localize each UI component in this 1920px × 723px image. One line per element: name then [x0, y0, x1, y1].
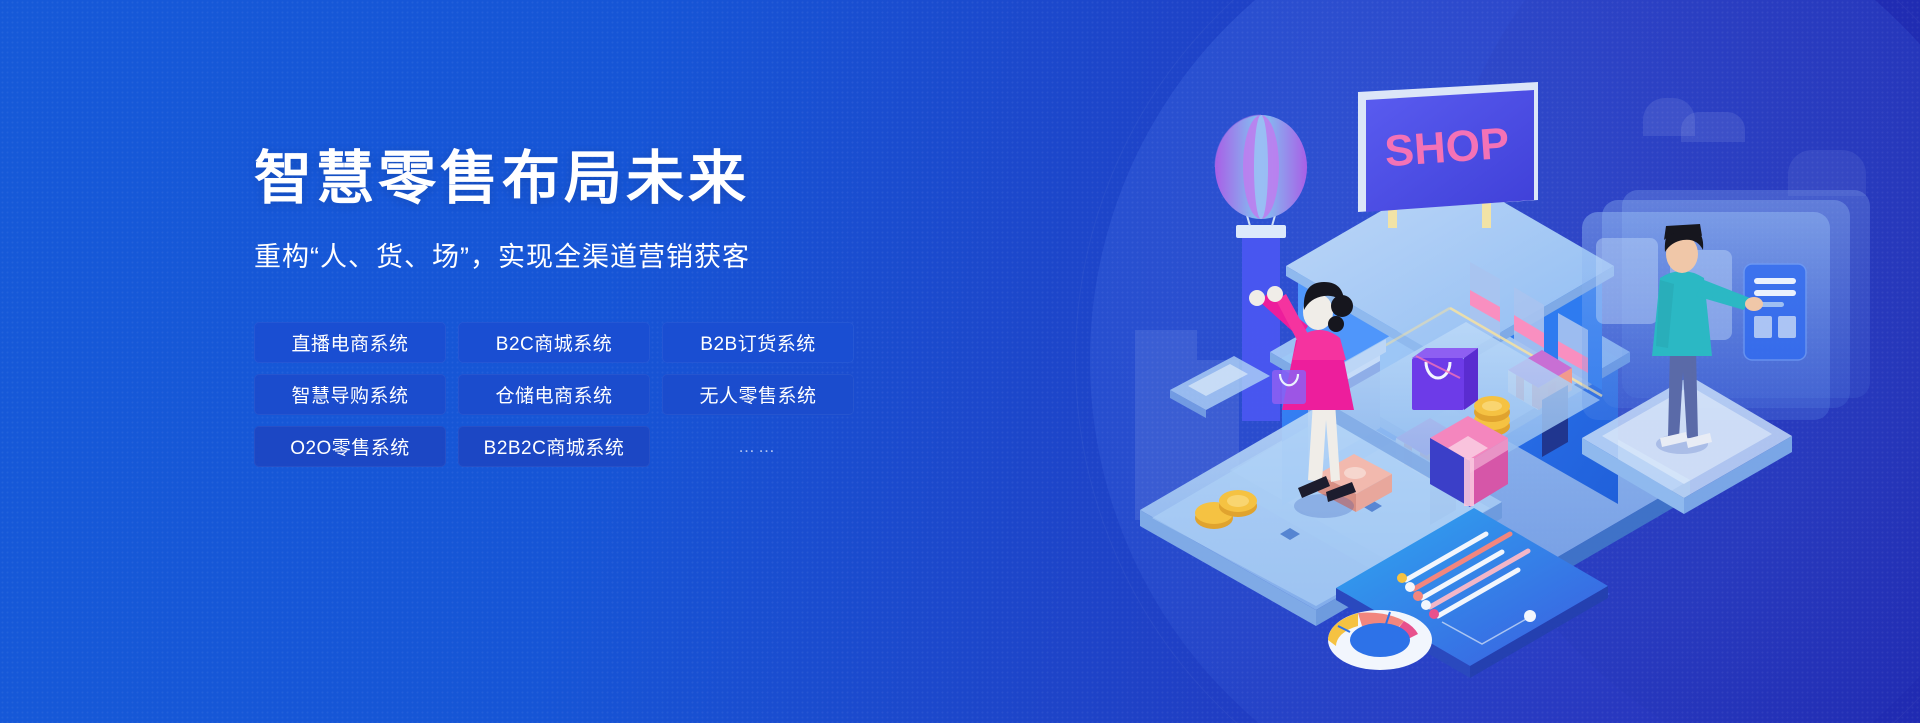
- product-tag-b2b2c-mall[interactable]: B2B2C商城系统: [458, 426, 650, 467]
- product-tag-row: 直播电商系统 B2C商城系统 B2B订货系统: [254, 322, 894, 363]
- product-tag-more: ……: [662, 437, 854, 457]
- ui-panel-stack: [1582, 190, 1870, 420]
- banner-content: 智慧零售布局未来 重构“人、货、场”，实现全渠道营销获客 直播电商系统 B2C商…: [254, 148, 894, 467]
- promo-banner: 智慧零售布局未来 重构“人、货、场”，实现全渠道营销获客 直播电商系统 B2C商…: [0, 0, 1920, 723]
- banner-subheadline: 重构“人、货、场”，实现全渠道营销获客: [254, 235, 894, 274]
- product-tag-b2b-ordering[interactable]: B2B订货系统: [662, 322, 854, 363]
- product-tag-b2c-mall[interactable]: B2C商城系统: [458, 322, 650, 363]
- product-tag-row: O2O零售系统 B2B2C商城系统 ……: [254, 426, 894, 467]
- product-tag-unmanned-retail[interactable]: 无人零售系统: [662, 374, 854, 415]
- shopping-bag-icon: [1412, 348, 1478, 410]
- product-tag-smart-guide[interactable]: 智慧导购系统: [254, 374, 446, 415]
- banner-headline: 智慧零售布局未来: [254, 148, 894, 209]
- product-tag-warehouse-commerce[interactable]: 仓储电商系统: [458, 374, 650, 415]
- product-tag-list: 直播电商系统 B2C商城系统 B2B订货系统 智慧导购系统 仓储电商系统 无人零…: [254, 322, 894, 467]
- smart-retail-illustration: SHOP: [1130, 40, 1890, 700]
- product-tag-o2o-retail[interactable]: O2O零售系统: [254, 426, 446, 467]
- shop-sign: SHOP: [1358, 82, 1538, 212]
- product-tag-live-commerce[interactable]: 直播电商系统: [254, 322, 446, 363]
- donut-chart: [1328, 610, 1432, 670]
- shop-sign-text: SHOP: [1383, 119, 1511, 177]
- floating-bag-icon: [1272, 370, 1306, 404]
- product-tag-row: 智慧导购系统 仓储电商系统 无人零售系统: [254, 374, 894, 415]
